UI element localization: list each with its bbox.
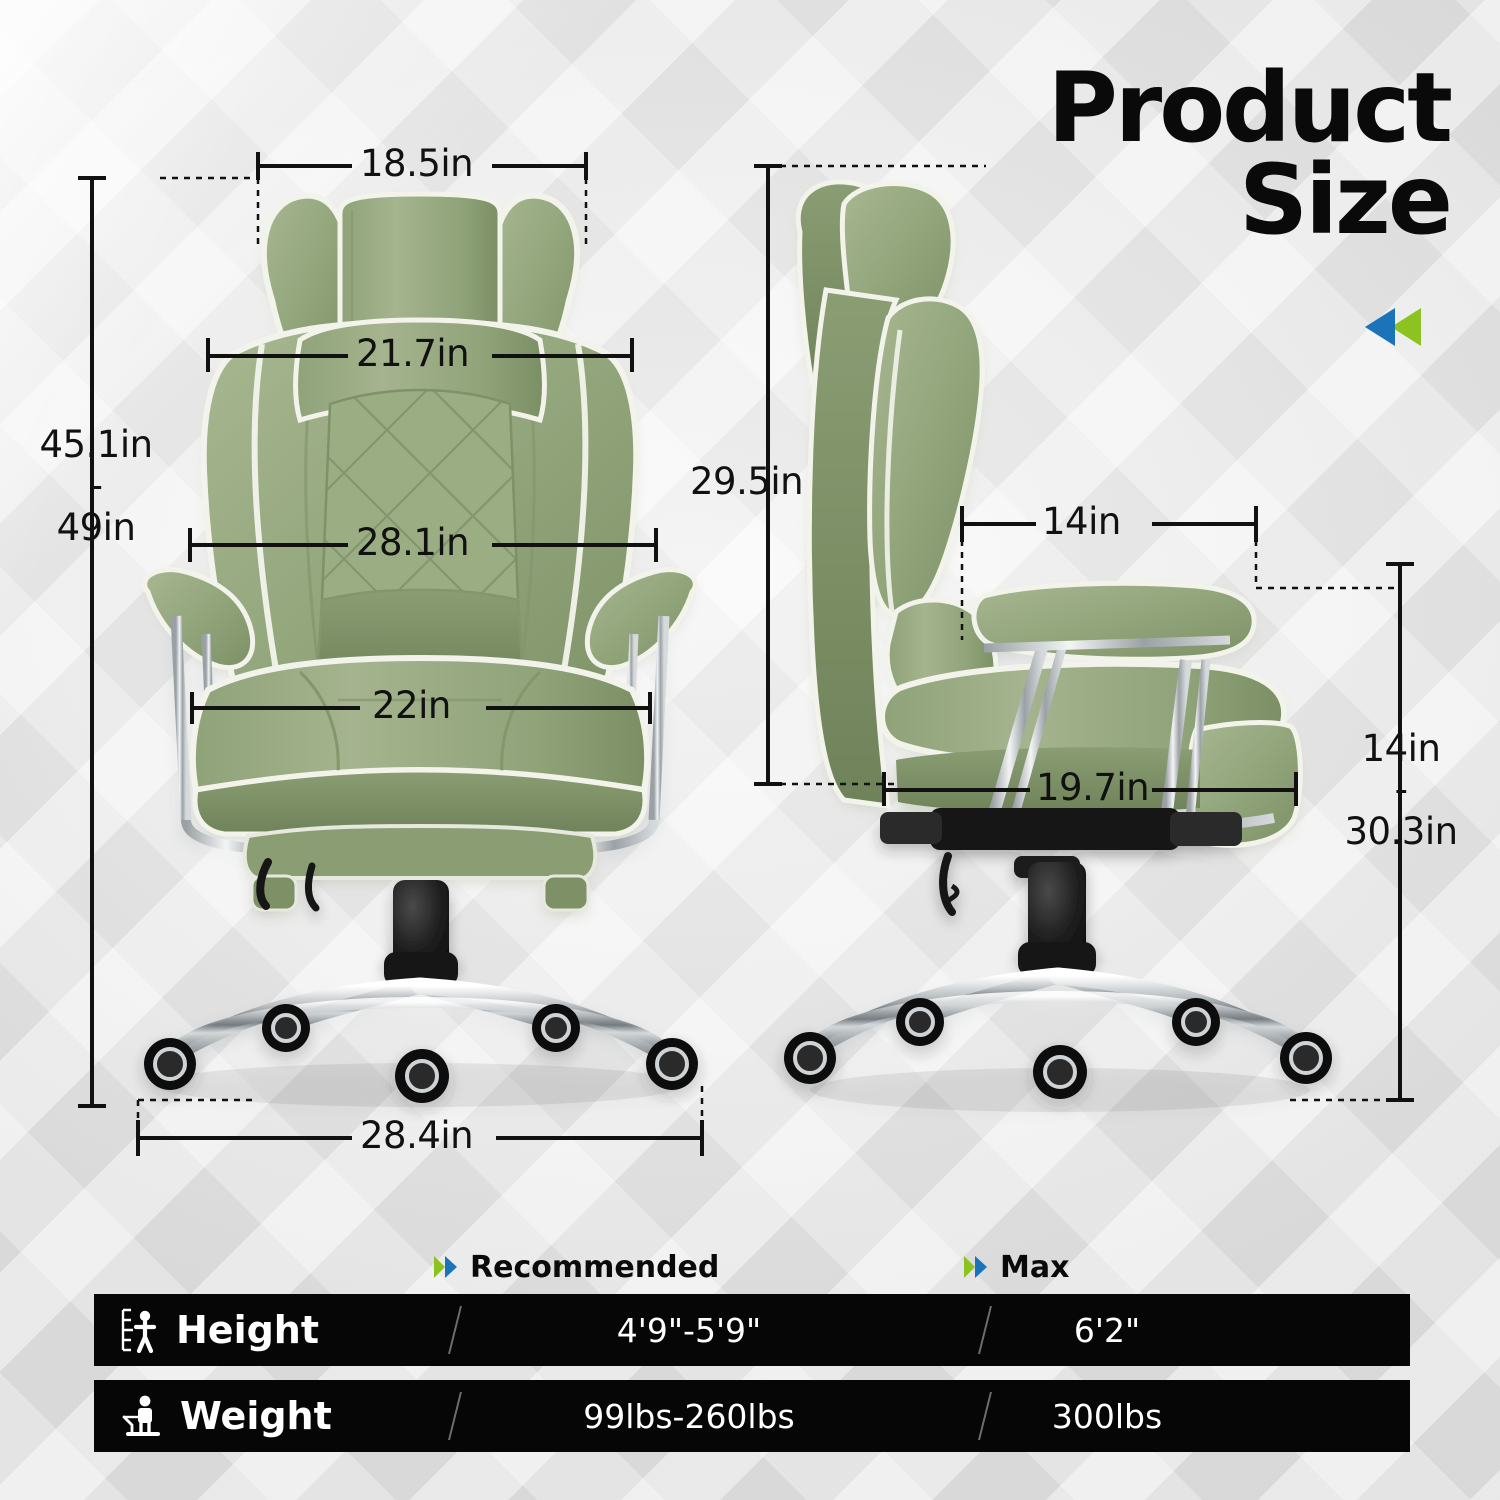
spec-row-weight: Weight 99lbs-260lbs 300lbs <box>94 1380 1410 1452</box>
seat-height-dash: - <box>1326 769 1476 810</box>
dim-label-backrest-width: 21.7in <box>356 332 469 375</box>
side-view-chair <box>784 182 1332 1112</box>
person-scale-icon <box>120 1393 164 1439</box>
dim-label-seat-width: 22in <box>372 684 451 727</box>
height-max-value: 6'2" <box>954 1311 1410 1350</box>
spec-header-recommended: Recommended <box>432 1250 962 1285</box>
height-recommended-value: 4'9"-5'9" <box>424 1311 954 1350</box>
spec-table-header: Recommended Max <box>94 1240 1410 1294</box>
dim-label-seat-depth: 14in <box>1042 500 1121 543</box>
person-ruler-icon <box>120 1307 160 1353</box>
spec-header-max: Max <box>962 1250 1410 1285</box>
max-label: Max <box>1000 1250 1069 1285</box>
spec-row-label-height: Height <box>94 1307 424 1353</box>
front-view-chair <box>144 194 698 1107</box>
dim-label-base-width: 28.4in <box>360 1114 473 1157</box>
product-dimension-illustration <box>0 0 1500 1230</box>
dim-label-backrest-height: 29.5in <box>690 460 803 503</box>
double-chevron-right-icon <box>962 1254 990 1280</box>
seat-height-line1: 14in <box>1326 728 1476 769</box>
dim-label-shoulder-width: 28.1in <box>356 521 469 564</box>
spec-row-height: Height 4'9"-5'9" 6'2" <box>94 1294 1410 1366</box>
overall-height-line2: 49in <box>26 507 166 548</box>
dim-label-seat-height: 14in - 30.3in <box>1326 728 1476 852</box>
recommended-label: Recommended <box>470 1250 719 1285</box>
seat-height-line2: 30.3in <box>1326 811 1476 852</box>
dim-label-width-top: 18.5in <box>360 142 473 185</box>
dim-label-overall-height: 45.1in - 49in <box>26 424 166 548</box>
weight-label: Weight <box>180 1394 332 1438</box>
weight-max-value: 300lbs <box>954 1397 1410 1436</box>
overall-height-line1: 45.1in <box>26 424 166 465</box>
overall-height-dash: - <box>26 465 166 506</box>
height-label: Height <box>176 1308 319 1352</box>
spec-table: Recommended Max Height 4'9"-5'9" 6'2" <box>94 1240 1410 1466</box>
spec-row-label-weight: Weight <box>94 1393 424 1439</box>
dim-label-overall-depth: 19.7in <box>1036 766 1149 809</box>
weight-recommended-value: 99lbs-260lbs <box>424 1397 954 1436</box>
double-chevron-right-icon <box>432 1254 460 1280</box>
